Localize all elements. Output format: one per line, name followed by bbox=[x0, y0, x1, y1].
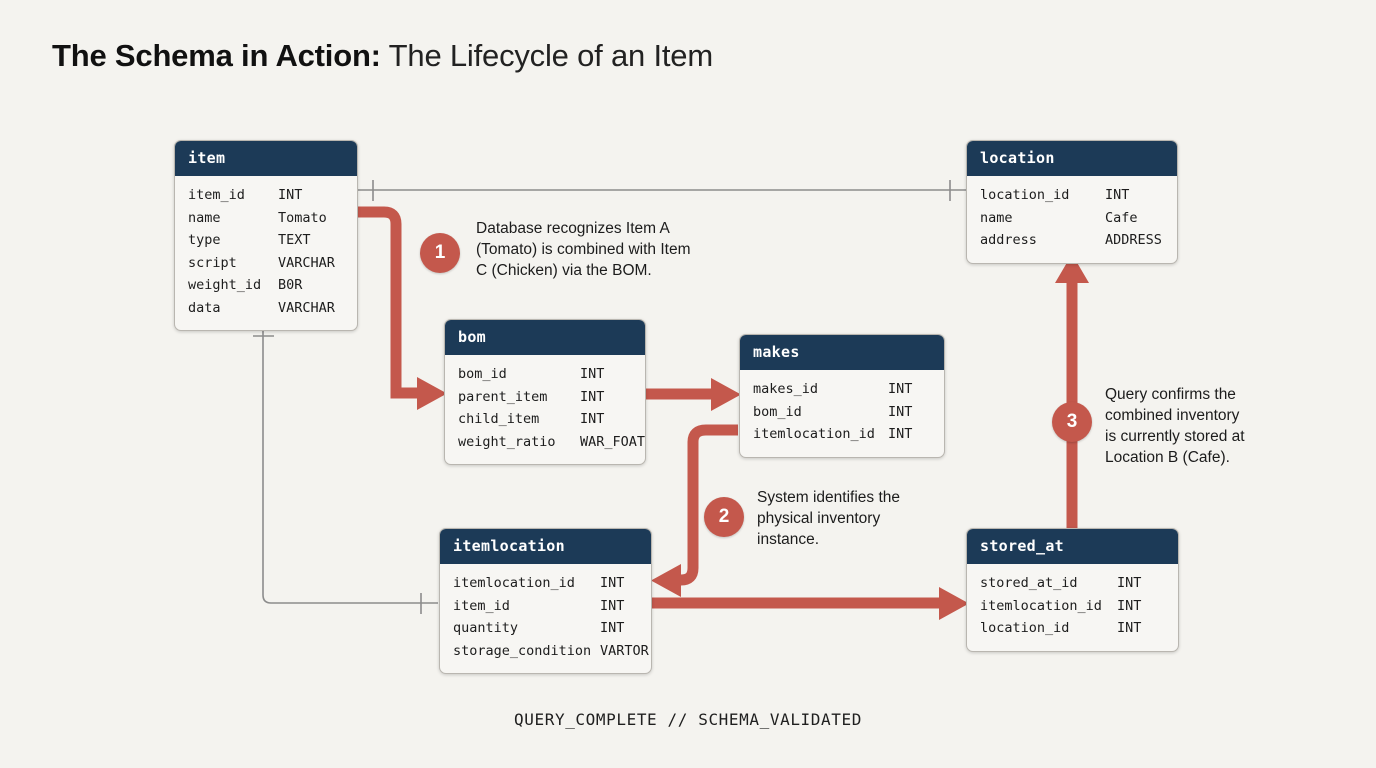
step-note-line: System identifies the bbox=[757, 487, 967, 508]
entity-table-itemlocation-fields: itemlocation_id INT item_id INT quantity… bbox=[440, 564, 651, 673]
field-type: INT bbox=[888, 423, 912, 446]
field-type: TEXT bbox=[278, 229, 311, 252]
relation-item-itemlocation bbox=[253, 323, 438, 614]
field-type: INT bbox=[888, 378, 912, 401]
field-name: bom_id bbox=[458, 363, 580, 386]
field-name: itemlocation_id bbox=[753, 423, 888, 446]
field-row: item_id INT bbox=[453, 595, 638, 618]
field-row: bom_id INT bbox=[753, 401, 931, 424]
footer-status-text: QUERY_COMPLETE // SCHEMA_VALIDATED bbox=[0, 710, 1376, 729]
field-name: stored_at_id bbox=[980, 572, 1117, 595]
field-type: B0R bbox=[278, 274, 302, 297]
field-name: makes_id bbox=[753, 378, 888, 401]
field-type: Cafe bbox=[1105, 207, 1138, 230]
field-name: location_id bbox=[980, 184, 1105, 207]
field-type: INT bbox=[580, 363, 604, 386]
field-name: address bbox=[980, 229, 1105, 252]
field-name: script bbox=[188, 252, 278, 275]
field-type: INT bbox=[278, 184, 302, 207]
field-name: data bbox=[188, 297, 278, 320]
field-name: item_id bbox=[453, 595, 600, 618]
step-note-1: Database recognizes Item A (Tomato) is c… bbox=[476, 218, 736, 281]
entity-table-bom-fields: bom_id INT parent_item INT child_item IN… bbox=[445, 355, 645, 464]
step-note-line: Location B (Cafe). bbox=[1105, 447, 1305, 468]
field-row: parent_item INT bbox=[458, 386, 632, 409]
field-row: name Tomato bbox=[188, 207, 344, 230]
relation-item-location bbox=[357, 180, 966, 201]
field-type: WAR_FOAT bbox=[580, 431, 645, 454]
field-name: itemlocation_id bbox=[980, 595, 1117, 618]
entity-table-stored-at-title: stored_at bbox=[967, 529, 1178, 564]
step-note-line: Query confirms the bbox=[1105, 384, 1305, 405]
field-row: name Cafe bbox=[980, 207, 1164, 230]
entity-table-makes-title: makes bbox=[740, 335, 944, 370]
step-note-2: System identifies the physical inventory… bbox=[757, 487, 967, 550]
entity-table-stored-at-fields: stored_at_id INT itemlocation_id INT loc… bbox=[967, 564, 1178, 651]
field-row: itemlocation_id INT bbox=[453, 572, 638, 595]
field-row: script VARCHAR bbox=[188, 252, 344, 275]
step-marker-2: 2 bbox=[704, 497, 744, 537]
field-row: itemlocation_id INT bbox=[980, 595, 1165, 618]
step-marker-3: 3 bbox=[1052, 402, 1092, 442]
step-note-line: physical inventory bbox=[757, 508, 967, 529]
entity-table-makes-fields: makes_id INT bom_id INT itemlocation_id … bbox=[740, 370, 944, 457]
step-note-line: C (Chicken) via the BOM. bbox=[476, 260, 736, 281]
field-row: itemlocation_id INT bbox=[753, 423, 931, 446]
flow-arrow-itemlocation-to-storedat bbox=[651, 587, 969, 620]
entity-table-location-fields: location_id INT name Cafe address ADDRES… bbox=[967, 176, 1177, 263]
field-row: location_id INT bbox=[980, 617, 1165, 640]
entity-table-itemlocation-title: itemlocation bbox=[440, 529, 651, 564]
field-row: makes_id INT bbox=[753, 378, 931, 401]
field-name: itemlocation_id bbox=[453, 572, 600, 595]
step-note-3: Query confirms the combined inventory is… bbox=[1105, 384, 1305, 468]
field-name: weight_ratio bbox=[458, 431, 580, 454]
diagram-canvas: The Schema in Action: The Lifecycle of a… bbox=[0, 0, 1376, 768]
field-type: INT bbox=[888, 401, 912, 424]
entity-table-item[interactable]: item item_id INT name Tomato type TEXT s… bbox=[174, 140, 358, 331]
entity-table-location[interactable]: location location_id INT name Cafe addre… bbox=[966, 140, 1178, 264]
field-type: INT bbox=[1105, 184, 1129, 207]
entity-table-item-title: item bbox=[175, 141, 357, 176]
field-name: bom_id bbox=[753, 401, 888, 424]
step-note-line: Database recognizes Item A bbox=[476, 218, 736, 239]
field-type: VARCHAR bbox=[278, 297, 335, 320]
field-name: name bbox=[980, 207, 1105, 230]
field-name: weight_id bbox=[188, 274, 278, 297]
field-row: weight_id B0R bbox=[188, 274, 344, 297]
field-row: data VARCHAR bbox=[188, 297, 344, 320]
entity-table-stored-at[interactable]: stored_at stored_at_id INT itemlocation_… bbox=[966, 528, 1179, 652]
step-note-line: is currently stored at bbox=[1105, 426, 1305, 447]
field-name: parent_item bbox=[458, 386, 580, 409]
field-name: name bbox=[188, 207, 278, 230]
field-row: item_id INT bbox=[188, 184, 344, 207]
field-row: child_item INT bbox=[458, 408, 632, 431]
field-row: weight_ratio WAR_FOAT bbox=[458, 431, 632, 454]
entity-table-bom-title: bom bbox=[445, 320, 645, 355]
entity-table-makes[interactable]: makes makes_id INT bom_id INT itemlocati… bbox=[739, 334, 945, 458]
field-type: INT bbox=[1117, 595, 1141, 618]
field-row: storage_condition VARTOR bbox=[453, 640, 638, 663]
page-title: The Schema in Action: The Lifecycle of a… bbox=[52, 38, 713, 74]
entity-table-bom[interactable]: bom bom_id INT parent_item INT child_ite… bbox=[444, 319, 646, 465]
page-title-light: The Lifecycle of an Item bbox=[381, 38, 713, 73]
entity-table-item-fields: item_id INT name Tomato type TEXT script… bbox=[175, 176, 357, 330]
entity-table-itemlocation[interactable]: itemlocation itemlocation_id INT item_id… bbox=[439, 528, 652, 674]
field-type: INT bbox=[600, 572, 624, 595]
field-type: ADDRESS bbox=[1105, 229, 1162, 252]
field-name: item_id bbox=[188, 184, 278, 207]
field-row: type TEXT bbox=[188, 229, 344, 252]
field-row: quantity INT bbox=[453, 617, 638, 640]
field-name: child_item bbox=[458, 408, 580, 431]
step-note-line: (Tomato) is combined with Item bbox=[476, 239, 736, 260]
field-name: location_id bbox=[980, 617, 1117, 640]
flow-arrow-storedat-to-location bbox=[1055, 254, 1089, 528]
field-name: quantity bbox=[453, 617, 600, 640]
entity-table-location-title: location bbox=[967, 141, 1177, 176]
field-type: INT bbox=[580, 408, 604, 431]
field-row: bom_id INT bbox=[458, 363, 632, 386]
field-type: INT bbox=[600, 595, 624, 618]
field-name: type bbox=[188, 229, 278, 252]
field-name: storage_condition bbox=[453, 640, 600, 663]
field-type: INT bbox=[600, 617, 624, 640]
field-row: location_id INT bbox=[980, 184, 1164, 207]
step-note-line: instance. bbox=[757, 529, 967, 550]
step-marker-1: 1 bbox=[420, 233, 460, 273]
field-type: Tomato bbox=[278, 207, 327, 230]
field-type: INT bbox=[580, 386, 604, 409]
field-row: address ADDRESS bbox=[980, 229, 1164, 252]
step-note-line: combined inventory bbox=[1105, 405, 1305, 426]
page-title-strong: The Schema in Action: bbox=[52, 38, 381, 73]
field-type: INT bbox=[1117, 617, 1141, 640]
field-type: VARCHAR bbox=[278, 252, 335, 275]
field-type: VARTOR bbox=[600, 640, 649, 663]
flow-arrow-bom-to-makes bbox=[645, 378, 741, 411]
field-row: stored_at_id INT bbox=[980, 572, 1165, 595]
field-type: INT bbox=[1117, 572, 1141, 595]
